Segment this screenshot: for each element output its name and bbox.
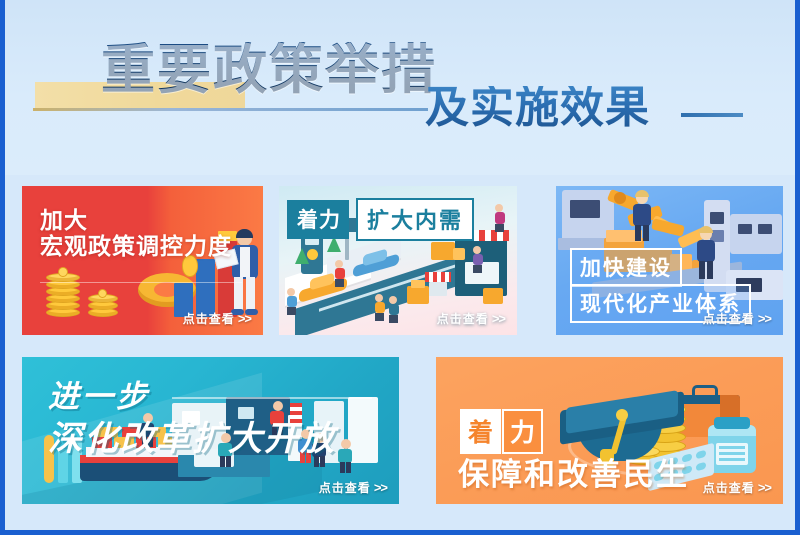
card-reform-cta[interactable]: 点击查看>> <box>319 479 387 496</box>
card-reform-title-line1: 进一步 <box>48 371 150 416</box>
bar-chart-bar-2 <box>196 259 215 317</box>
card-livelihood-title-char2: 力 <box>502 409 543 454</box>
card-livelihood-title-line2: 保障和改善民生 <box>458 449 689 494</box>
machine-left-screen <box>570 200 600 218</box>
parcel-box-1 <box>407 286 429 304</box>
car-blue-icon <box>353 252 399 272</box>
card-livelihood-cta-label: 点击查看 <box>703 481 755 495</box>
parcel-box-2 <box>411 280 425 288</box>
market-stall-counter <box>429 282 447 296</box>
card-industry[interactable]: 加快建设 现代化产业体系 点击查看>> <box>556 186 783 335</box>
card-livelihood-cta-arrow-icon: >> <box>758 480 771 495</box>
card-reform-title-rule <box>172 397 372 399</box>
booth-right-2 <box>348 397 378 463</box>
card-policy-cta-label: 点击查看 <box>183 312 235 326</box>
card-policy-line1: 加大 <box>40 207 88 233</box>
title-divider-secondary <box>681 113 743 117</box>
title-divider-primary <box>33 108 428 111</box>
card-policy-cta-arrow-icon: >> <box>238 311 251 326</box>
medicine-jar-icon <box>708 417 756 475</box>
card-policy[interactable]: 加大 宏观政策调控力度 点击查看>> <box>22 186 263 335</box>
page-root: 重要政策举措 及实施效果 <box>0 0 800 535</box>
page-subtitle: 及实施效果 <box>425 86 650 130</box>
pedestrian-3-icon <box>375 294 385 320</box>
card-demand-cta[interactable]: 点击查看>> <box>437 310 505 327</box>
coin-stack-tall-icon <box>46 261 80 317</box>
worker-1-icon <box>632 192 652 242</box>
pedestrian-5-icon <box>495 204 505 230</box>
card-industry-cta[interactable]: 点击查看>> <box>703 310 771 327</box>
card-demand-cta-label: 点击查看 <box>437 312 489 326</box>
pedestrian-2-icon <box>335 260 345 286</box>
card-industry-title-line1: 加快建设 <box>570 248 682 287</box>
machine-right-panel-1 <box>738 224 752 234</box>
card-policy-cta[interactable]: 点击查看>> <box>183 310 251 327</box>
delivery-truck-icon <box>431 238 467 264</box>
market-stall-canopy <box>425 272 451 282</box>
card-livelihood-cta[interactable]: 点击查看>> <box>703 479 771 496</box>
machine-right-panel-2 <box>758 224 772 234</box>
card-policy-title-rule <box>40 282 242 283</box>
card-livelihood[interactable]: ¥ <box>436 357 783 504</box>
reform-person-5-icon <box>338 439 352 473</box>
card-reform-title-line2: 深化改革扩大开放 <box>48 411 336 460</box>
card-policy-line2: 宏观政策调控力度 <box>40 233 232 259</box>
machine-right-body <box>730 214 782 254</box>
pedestrian-6-icon <box>473 246 483 272</box>
parcel-box-3 <box>483 288 503 304</box>
page-title: 重要政策举措 <box>101 42 437 96</box>
worker-2-icon <box>696 228 716 280</box>
card-demand-cta-arrow-icon: >> <box>492 311 505 326</box>
card-demand-title-line1: 着力 <box>287 200 349 239</box>
coin-stack-short-icon <box>88 283 118 317</box>
card-reform-cta-arrow-icon: >> <box>374 480 387 495</box>
page-header: 重要政策举措 及实施效果 <box>5 0 795 175</box>
tree-icon-1 <box>295 248 309 264</box>
card-livelihood-title-char1: 着 <box>460 409 501 454</box>
card-reform[interactable]: 进一步 深化改革扩大开放 点击查看>> <box>22 357 399 504</box>
pedestrian-4-icon <box>389 296 399 322</box>
machine-tower-panel-1 <box>710 212 724 224</box>
card-industry-cta-label: 点击查看 <box>703 312 755 326</box>
pedestrian-1-icon <box>287 288 297 314</box>
card-demand[interactable]: 着力 扩大内需 点击查看>> <box>279 186 517 335</box>
card-policy-title: 加大 宏观政策调控力度 <box>40 208 232 260</box>
card-demand-title-line2: 扩大内需 <box>356 198 474 241</box>
card-industry-cta-arrow-icon: >> <box>758 311 771 326</box>
card-reform-cta-label: 点击查看 <box>319 481 371 495</box>
